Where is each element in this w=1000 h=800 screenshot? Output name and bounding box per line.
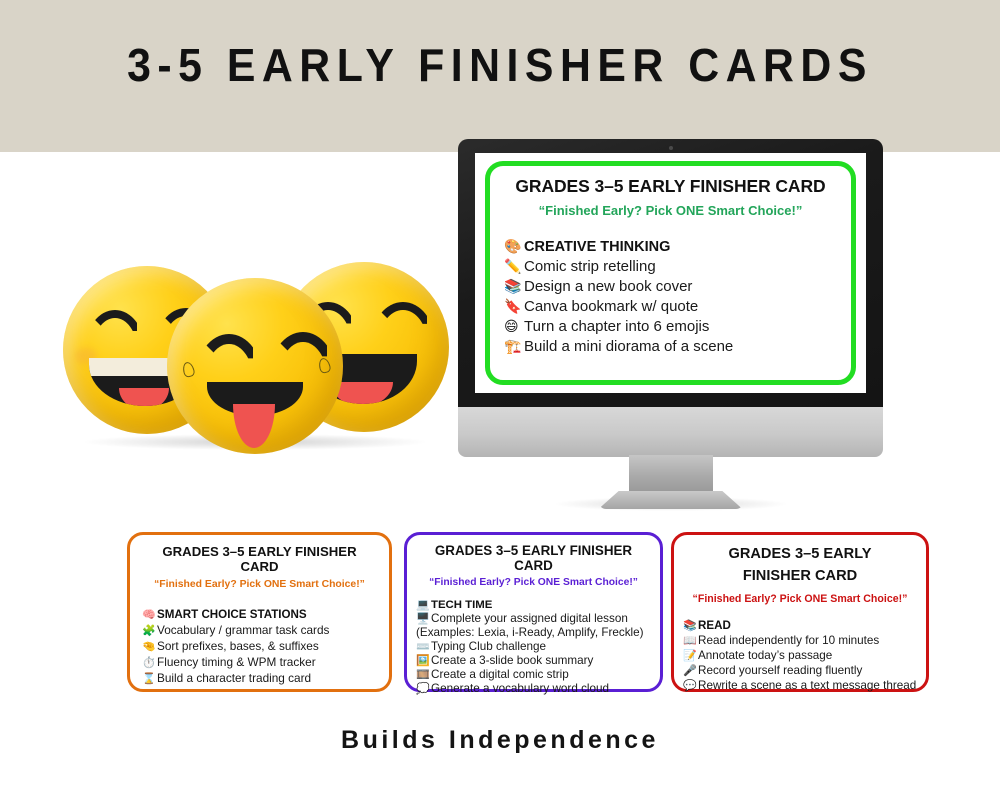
keyboard-icon: ⌨️ (416, 640, 431, 653)
list-item-label: Vocabulary / grammar task cards (157, 623, 329, 637)
memo-icon: 📝 (683, 649, 698, 662)
list-item: 🏗️Build a mini diorama of a scene (504, 338, 837, 355)
card-note: (Examples: Lexia, i-Ready, Amplify, Frec… (416, 626, 651, 639)
books-icon: 📚 (504, 279, 524, 295)
list-item: 📖Read independently for 10 minutes (683, 634, 917, 647)
card-title-line-1: GRADES 3–5 EARLY (683, 544, 917, 566)
puzzle-piece-icon: 🧩 (142, 624, 157, 637)
stopwatch-icon: ⏱️ (142, 656, 157, 669)
books-icon: 📚 (683, 619, 698, 632)
list-item: 😄Turn a chapter into 6 emojis (504, 318, 837, 335)
list-item-label: Create a digital comic strip (431, 668, 569, 681)
list-item-label: Typing Club challenge (431, 640, 546, 653)
footer-tagline: Builds Independence (0, 726, 1000, 755)
card-section-heading: 📚READ (683, 619, 917, 632)
laptop-icon: 💻 (416, 598, 431, 611)
list-item: 🖼️Create a 3-slide book summary (416, 654, 651, 667)
eye-arc-icon (85, 310, 145, 350)
list-item: 📝Annotate today’s passage (683, 649, 917, 662)
card-section-heading: 💻TECH TIME (416, 598, 651, 611)
palette-icon: 🎨 (504, 239, 524, 255)
list-item: 🔖Canva bookmark w/ quote (504, 298, 837, 315)
list-item-label: Design a new book cover (524, 278, 692, 295)
card-title: GRADES 3–5 EARLY FINISHER CARD (142, 544, 377, 574)
card-smart-choice-stations: GRADES 3–5 EARLY FINISHER CARD “Finished… (127, 532, 392, 692)
tongue-sticking-out-icon (233, 404, 275, 448)
list-item-label: Comic strip retelling (524, 258, 656, 275)
card-section-label: SMART CHOICE STATIONS (157, 608, 307, 621)
card-title-line-2: FINISHER CARD (683, 566, 917, 588)
screen-finisher-card: GRADES 3–5 EARLY FINISHER CARD “Finished… (485, 161, 856, 385)
eye-arc-icon (371, 302, 435, 343)
list-item: 📚Design a new book cover (504, 278, 837, 295)
screen-card-section-heading: 🎨CREATIVE THINKING (504, 239, 837, 255)
list-item: ⏱️Fluency timing & WPM tracker (142, 655, 377, 669)
monitor-bezel: GRADES 3–5 EARLY FINISHER CARD “Finished… (458, 139, 883, 407)
eye-arc-icon (195, 334, 263, 380)
card-section-label: TECH TIME (431, 599, 492, 611)
framed-picture-icon: 🖼️ (416, 654, 431, 667)
sweat-drop-icon (181, 361, 195, 378)
list-item-label: Canva bookmark w/ quote (524, 298, 698, 315)
open-book-icon: 📖 (683, 634, 698, 647)
list-item-label: Create a 3-slide book summary (431, 654, 593, 667)
list-item: 🎤Record yourself reading fluently (683, 664, 917, 677)
list-item: 🎞️Create a digital comic strip (416, 668, 651, 681)
crane-icon: 🏗️ (504, 339, 524, 355)
monitor-screen: GRADES 3–5 EARLY FINISHER CARD “Finished… (475, 153, 866, 393)
card-subtitle: “Finished Early? Pick ONE Smart Choice!” (416, 577, 651, 588)
list-item: 💭Generate a vocabulary word cloud (416, 682, 651, 695)
tongue-icon (119, 388, 169, 406)
list-item-label: Annotate today’s passage (698, 649, 832, 662)
card-subtitle: “Finished Early? Pick ONE Smart Choice!” (683, 593, 917, 605)
list-item-label: Rewrite a scene as a text message thread (698, 679, 916, 692)
list-item-label: Fluency timing & WPM tracker (157, 655, 316, 669)
speech-balloon-icon: 💬 (683, 679, 698, 692)
list-item: 🧩Vocabulary / grammar task cards (142, 623, 377, 637)
list-item-label: Build a mini diorama of a scene (524, 338, 733, 355)
list-item: ⌛Build a character trading card (142, 671, 377, 685)
bookmark-icon: 🔖 (504, 299, 524, 315)
thought-balloon-icon: 💭 (416, 682, 431, 695)
list-item-label: Read independently for 10 minutes (698, 634, 879, 647)
card-tech-time: GRADES 3–5 EARLY FINISHER CARD “Finished… (404, 532, 663, 692)
microphone-icon: 🎤 (683, 664, 698, 677)
card-title: GRADES 3–5 EARLY FINISHER CARD (416, 543, 651, 573)
pencil-icon: ✏️ (504, 259, 524, 275)
list-item-label: Turn a chapter into 6 emojis (524, 318, 709, 335)
screen-card-subtitle: “Finished Early? Pick ONE Smart Choice!” (504, 203, 837, 218)
list-item: ✏️Comic strip retelling (504, 258, 837, 275)
card-read: GRADES 3–5 EARLY FINISHER CARD “Finished… (671, 532, 929, 692)
monitor-stand-base (599, 491, 743, 509)
list-item-label: Sort prefixes, bases, & suffixes (157, 639, 319, 653)
brain-icon: 🧠 (142, 608, 157, 621)
card-subtitle: “Finished Early? Pick ONE Smart Choice!” (142, 579, 377, 590)
grinning-face-icon: 😄 (504, 319, 524, 335)
screen-card-section-label: CREATIVE THINKING (524, 239, 670, 255)
list-item: 💬Rewrite a scene as a text message threa… (683, 679, 917, 692)
list-item: 🤏Sort prefixes, bases, & suffixes (142, 639, 377, 653)
list-item: 🖥️Complete your assigned digital lesson (416, 612, 651, 625)
card-section-label: READ (698, 619, 731, 632)
page-title: 3-5 EARLY FINISHER CARDS (35, 38, 965, 92)
pinching-hand-icon: 🤏 (142, 640, 157, 653)
list-item-label: Record yourself reading fluently (698, 664, 862, 677)
list-item-label: Build a character trading card (157, 671, 311, 685)
webcam-icon (669, 146, 673, 150)
desktop-computer-icon: 🖥️ (416, 612, 431, 625)
monitor: GRADES 3–5 EARLY FINISHER CARD “Finished… (458, 139, 883, 464)
monitor-chin (458, 407, 883, 457)
card-section-heading: 🧠SMART CHOICE STATIONS (142, 608, 377, 621)
list-item-label: Generate a vocabulary word cloud (431, 682, 609, 695)
list-item-label: Complete your assigned digital lesson (431, 612, 628, 625)
emoji-face-tongue-out (167, 278, 343, 454)
emoji-photo (55, 248, 455, 448)
list-item: ⌨️Typing Club challenge (416, 640, 651, 653)
screen-card-title: GRADES 3–5 EARLY FINISHER CARD (504, 176, 837, 197)
film-frames-icon: 🎞️ (416, 668, 431, 681)
hourglass-icon: ⌛ (142, 672, 157, 685)
